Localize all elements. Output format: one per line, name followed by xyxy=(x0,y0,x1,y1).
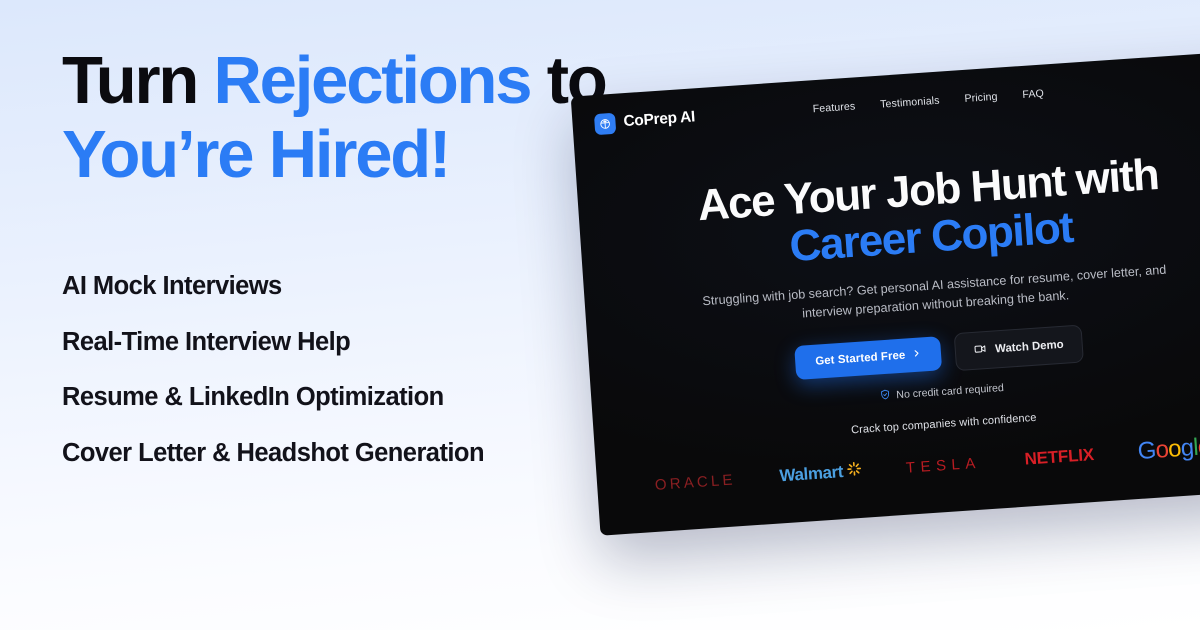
primary-cta-label: Get Started Free xyxy=(815,350,906,368)
nav-item-testimonials[interactable]: Testimonials xyxy=(880,95,940,111)
website-preview-panel: CoPrep AI Features Testimonials Pricing … xyxy=(571,49,1200,536)
logo-walmart: Walmart xyxy=(779,458,863,490)
hero-section: Ace Your Job Hunt with Career Copilot St… xyxy=(577,145,1200,423)
logo-netflix: NETFLIX xyxy=(1024,442,1095,473)
get-started-free-button[interactable]: Get Started Free xyxy=(794,336,942,380)
nav-links: Features Testimonials Pricing FAQ xyxy=(812,88,1044,116)
video-camera-icon xyxy=(974,342,988,359)
brand-logo[interactable]: CoPrep AI xyxy=(594,107,696,135)
walmart-wordmark: Walmart xyxy=(779,462,844,486)
logo-tesla: TESLA xyxy=(905,450,982,481)
netflix-wordmark: NETFLIX xyxy=(1024,445,1095,470)
oracle-wordmark: ORACLE xyxy=(654,471,736,493)
headline-text-part1: Turn xyxy=(62,43,214,118)
logo-oracle: ORACLE xyxy=(654,466,736,497)
google-wordmark: Google xyxy=(1137,433,1200,466)
headline-line2: You’re Hired! xyxy=(62,117,449,192)
logo-google: Google xyxy=(1137,434,1200,465)
nav-item-faq[interactable]: FAQ xyxy=(1022,88,1044,101)
watch-demo-button[interactable]: Watch Demo xyxy=(954,325,1084,372)
promo-banner: Turn Rejections to You’re Hired! AI Mock… xyxy=(0,0,1200,630)
brain-icon xyxy=(594,112,616,134)
secondary-cta-label: Watch Demo xyxy=(995,339,1064,356)
hero-title: Ace Your Job Hunt with Career Copilot xyxy=(577,145,1200,283)
shield-check-icon xyxy=(879,389,891,404)
google-letter-g: G xyxy=(1137,437,1157,465)
brand-name: CoPrep AI xyxy=(623,108,696,131)
nav-item-pricing[interactable]: Pricing xyxy=(964,91,998,105)
chevron-right-icon xyxy=(912,349,922,362)
tesla-wordmark: TESLA xyxy=(905,454,981,476)
nav-item-features[interactable]: Features xyxy=(812,100,855,115)
no-credit-card-label: No credit card required xyxy=(896,382,1004,401)
headline-accent-word: Rejections xyxy=(214,43,531,118)
walmart-spark-icon xyxy=(846,461,862,482)
